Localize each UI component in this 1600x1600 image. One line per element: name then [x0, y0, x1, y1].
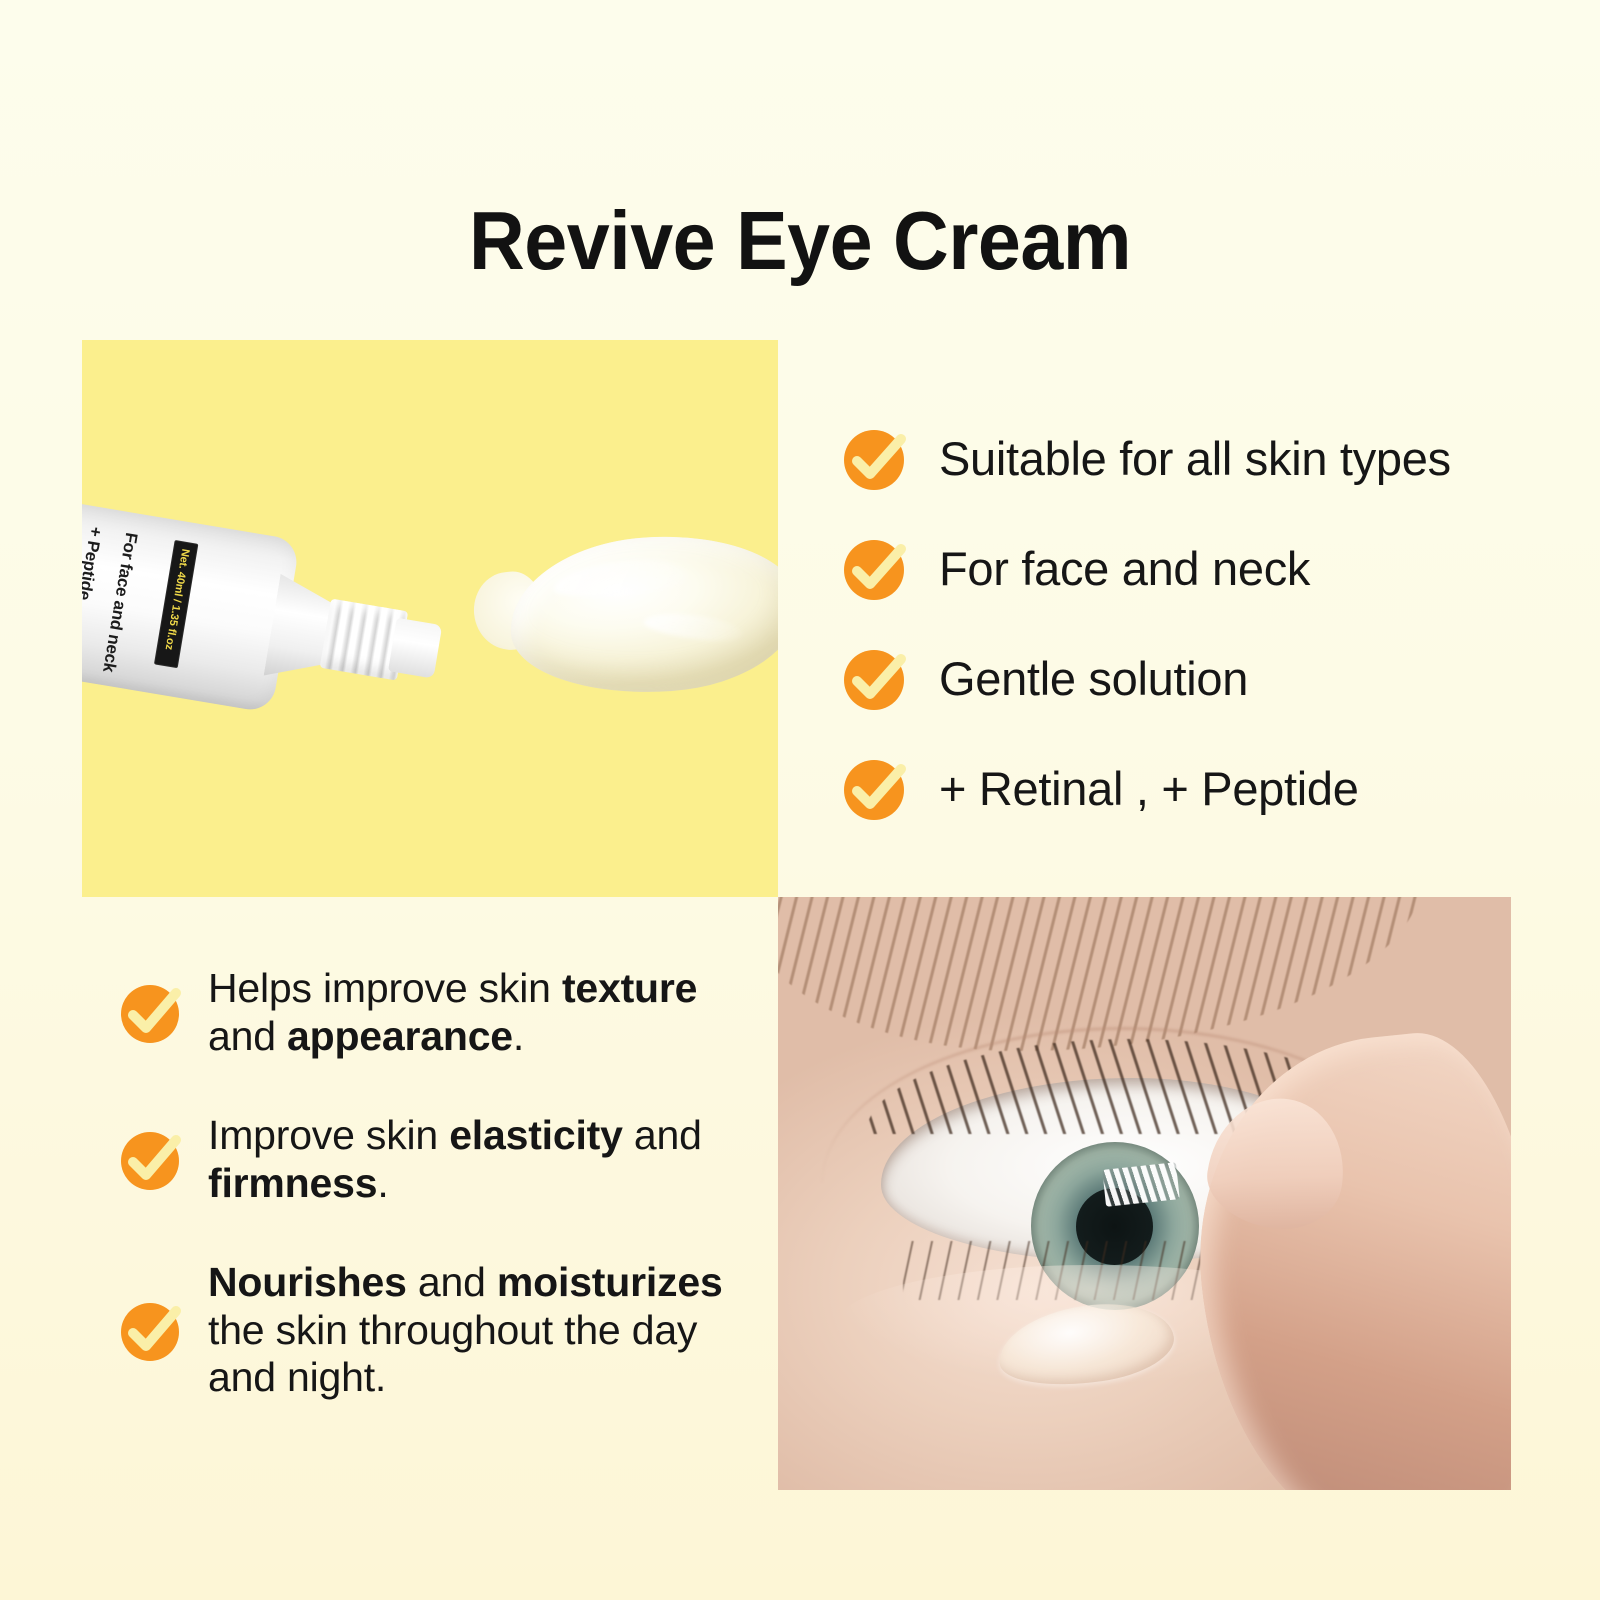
check-circle-icon [843, 756, 909, 822]
list-item: Nourishes and moisturizes the skin throu… [120, 1259, 760, 1402]
list-item-label: Nourishes and moisturizes the skin throu… [208, 1259, 760, 1402]
list-item-label: Suitable for all skin types [939, 432, 1451, 486]
product-image-panel: Gentle Solution + Retinal + Peptide For … [82, 340, 778, 897]
check-circle-icon [843, 426, 909, 492]
list-item-label: Gentle solution [939, 652, 1248, 706]
benefit-list: Helps improve skin texture and appearanc… [120, 965, 760, 1454]
check-circle-icon [120, 1299, 184, 1363]
product-tube: Gentle Solution + Retinal + Peptide For … [82, 491, 379, 726]
eye-closeup-photo [778, 897, 1511, 1490]
list-item: Gentle solution [843, 644, 1583, 714]
check-circle-icon [120, 981, 184, 1045]
tube-body: Gentle Solution + Retinal + Peptide For … [82, 491, 300, 713]
list-item: Helps improve skin texture and appearanc… [120, 965, 760, 1060]
page-title: Revive Eye Cream [56, 193, 1544, 289]
list-item: Improve skin elasticity and firmness. [120, 1112, 760, 1207]
tube-label: Gentle Solution + Retinal + Peptide For … [82, 511, 188, 684]
list-item-label: + Retinal , + Peptide [939, 762, 1359, 816]
list-item: For face and neck [843, 534, 1583, 604]
check-circle-icon [843, 536, 909, 602]
cream-swatch [505, 527, 778, 702]
list-item-label: For face and neck [939, 542, 1310, 596]
tube-label-line-3: + Peptide [82, 525, 106, 602]
list-item-label: Helps improve skin texture and appearanc… [208, 965, 760, 1060]
tube-net-badge: Net. 40ml / 1.35 fl.oz [154, 540, 198, 668]
list-item-label: Improve skin elasticity and firmness. [208, 1112, 760, 1207]
catchlight [1103, 1162, 1180, 1206]
list-item: Suitable for all skin types [843, 424, 1583, 494]
feature-list: Suitable for all skin types For face and… [843, 424, 1583, 864]
tube-tip [388, 618, 442, 679]
tube-label-line-4: For face and neck [98, 531, 141, 674]
tube-net-badge-text: Net. 40ml / 1.35 fl.oz [163, 548, 192, 651]
check-circle-icon [120, 1128, 184, 1192]
product-infographic: Revive Eye Cream Gentle Solution + Retin… [0, 0, 1600, 1600]
list-item: + Retinal , + Peptide [843, 754, 1583, 824]
check-circle-icon [843, 646, 909, 712]
